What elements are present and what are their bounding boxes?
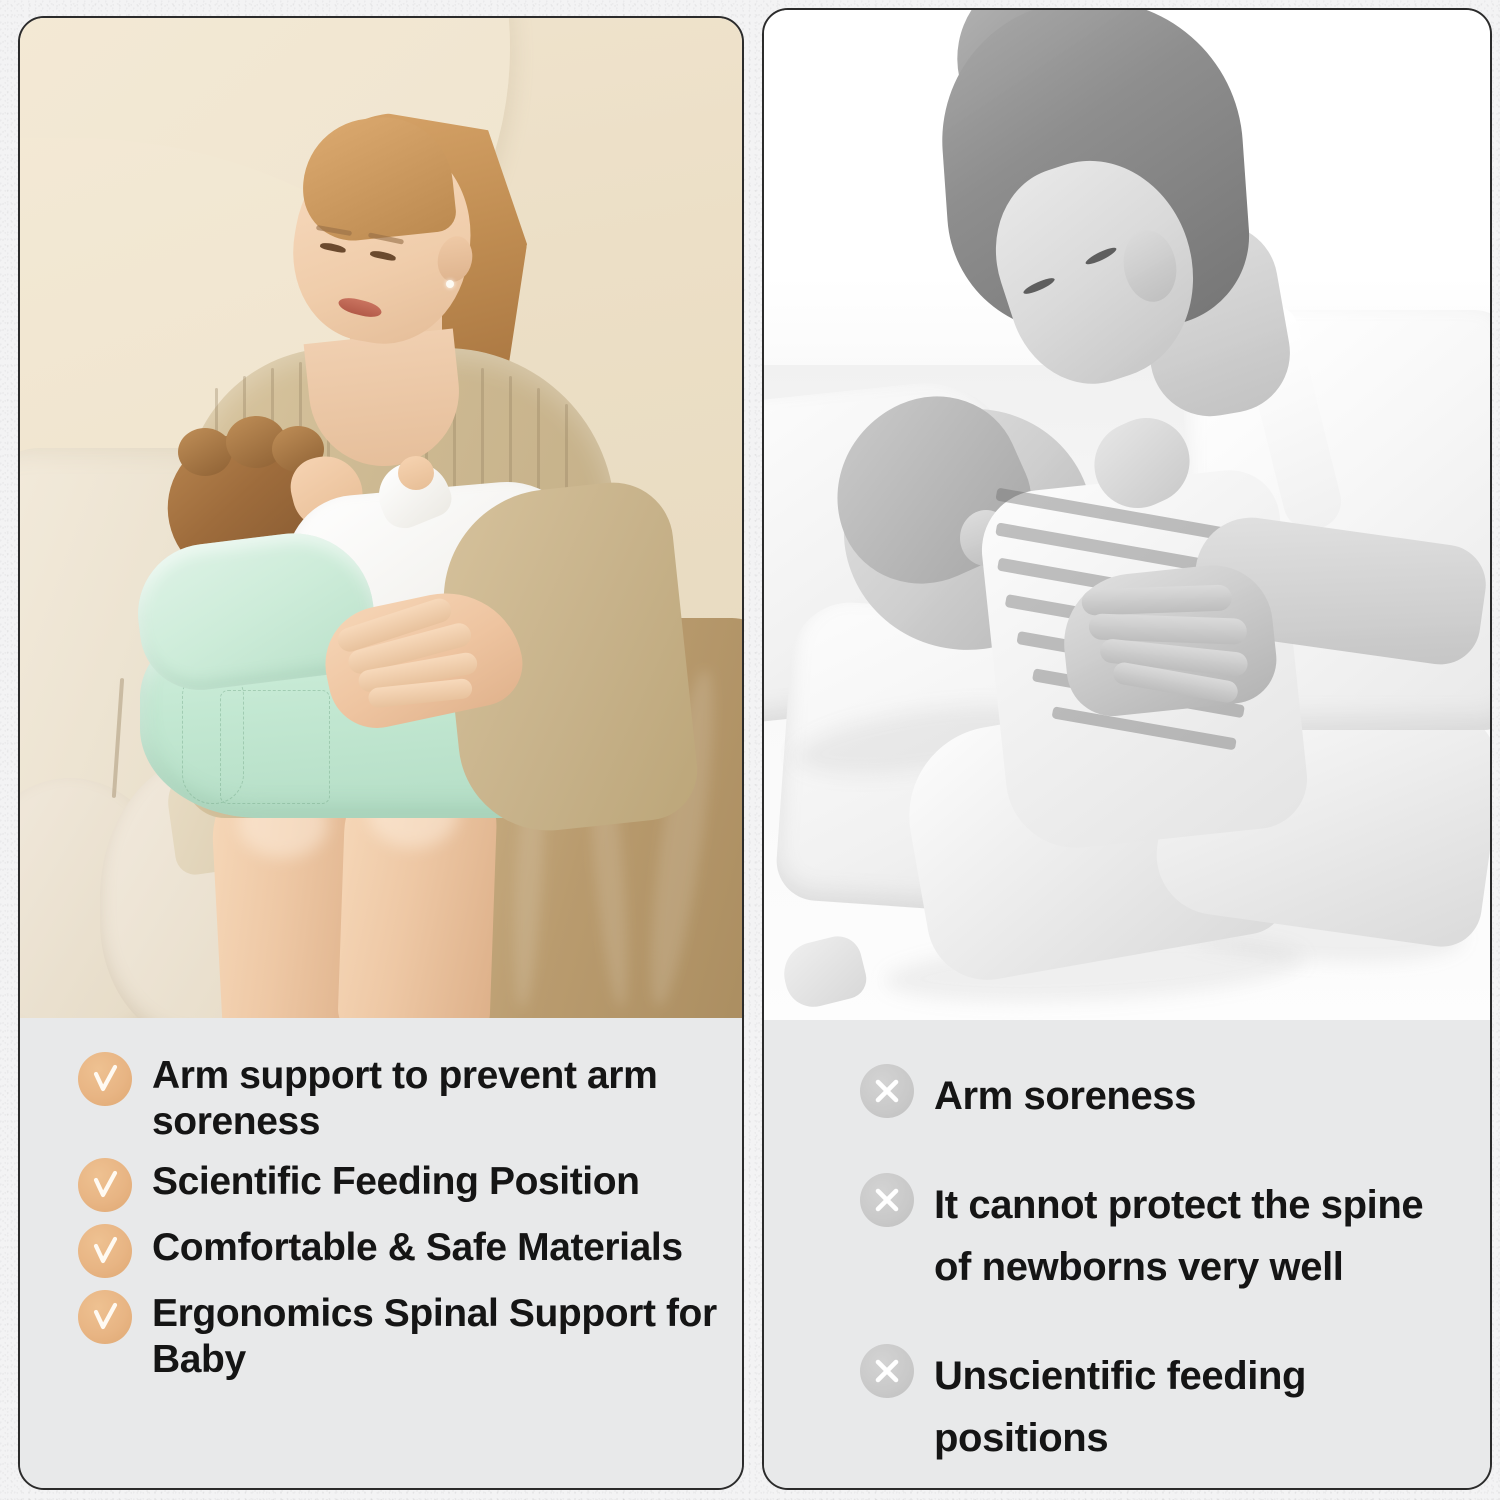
drawbacks-list: Arm soreness It cannot protect the spine… xyxy=(764,1020,1490,1490)
baby-hair-curl xyxy=(178,428,232,476)
right-comparison-photo xyxy=(764,10,1490,1020)
list-item-label: Unscientific feeding positions xyxy=(934,1344,1454,1469)
x-circle-icon xyxy=(860,1173,914,1227)
right-drawbacks-text-area: Arm soreness It cannot protect the spine… xyxy=(764,1020,1490,1490)
list-item: It cannot protect the spine of newborns … xyxy=(860,1173,1474,1298)
baby-hand xyxy=(398,456,434,490)
list-item: Unscientific feeding positions xyxy=(860,1344,1474,1469)
list-item: Scientific Feeding Position xyxy=(78,1158,720,1212)
x-circle-icon xyxy=(860,1344,914,1398)
infographic-canvas: ✦ xyxy=(0,0,1500,1500)
list-item-label: Ergonomics Spinal Support for Baby xyxy=(152,1290,720,1384)
list-item-label: Scientific Feeding Position xyxy=(152,1158,640,1205)
check-circle-icon xyxy=(78,1290,132,1344)
right-comparison-card: Arm soreness It cannot protect the spine… xyxy=(762,8,1492,1490)
check-circle-icon xyxy=(78,1052,132,1106)
earring xyxy=(446,280,454,288)
right-photo-scene xyxy=(764,10,1490,1020)
list-item-label: It cannot protect the spine of newborns … xyxy=(934,1173,1454,1298)
list-item: Ergonomics Spinal Support for Baby xyxy=(78,1290,720,1384)
list-item-label: Arm support to prevent arm soreness xyxy=(152,1052,720,1146)
left-benefits-text-area: Arm support to prevent arm soreness Scie… xyxy=(20,1018,742,1490)
list-item-label: Comfortable & Safe Materials xyxy=(152,1224,683,1271)
list-item: Arm support to prevent arm soreness xyxy=(78,1052,720,1146)
list-item-label: Arm soreness xyxy=(934,1064,1196,1127)
x-circle-icon xyxy=(860,1064,914,1118)
list-item: Arm soreness xyxy=(860,1064,1474,1127)
left-product-photo: ✦ xyxy=(20,18,742,1018)
benefits-list: Arm support to prevent arm soreness Scie… xyxy=(20,1018,742,1396)
left-comparison-card: ✦ xyxy=(18,16,744,1490)
check-circle-icon xyxy=(78,1224,132,1278)
list-item: Comfortable & Safe Materials xyxy=(78,1224,720,1278)
left-photo-scene: ✦ xyxy=(20,18,742,1018)
check-circle-icon xyxy=(78,1158,132,1212)
